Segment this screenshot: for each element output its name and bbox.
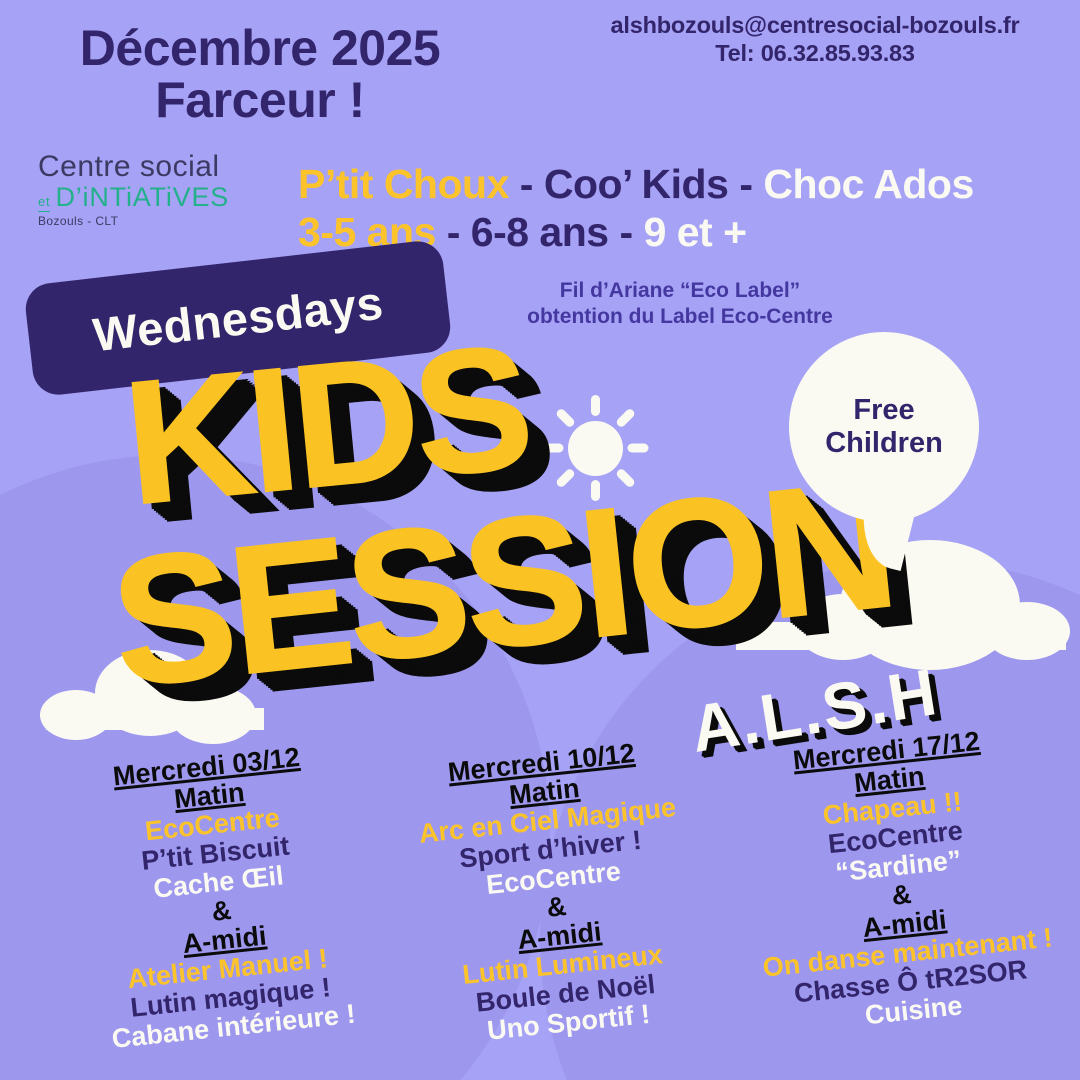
bubble-line-1: Free xyxy=(853,394,914,427)
group-name-2: Choc Ados xyxy=(763,161,973,207)
group-age-separator-1: - xyxy=(620,209,633,255)
logo-line-1: Centre social xyxy=(38,152,250,182)
logo-initiatives: D’iNTiATiVES xyxy=(55,182,229,212)
group-name-1: Coo’ Kids xyxy=(544,161,729,207)
group-separator-1: - xyxy=(739,161,752,207)
group-separator-0: - xyxy=(520,161,533,207)
contact-block: alshbozouls@centresocial-bozouls.fr Tel:… xyxy=(560,12,1070,67)
eco-label-line-1: Fil d’Ariane “Eco Label” xyxy=(400,278,960,304)
day-column-2: Mercredi 10/12 Matin Arc en Ciel Magique… xyxy=(376,732,735,1055)
page-title: Décembre 2025 Farceur ! xyxy=(0,22,520,126)
day-1-ampersand: & xyxy=(210,895,233,928)
logo-line-2-wrap: et D’iNTiATiVES xyxy=(38,182,250,212)
contact-phone[interactable]: Tel: 06.32.85.93.83 xyxy=(560,40,1070,68)
day-column-3-stack: Mercredi 17/12 Matin Chapeau !! EcoCentr… xyxy=(721,720,1080,1043)
logo-subtitle: Bozouls - CLT xyxy=(38,214,250,228)
day-column-3: Mercredi 17/12 Matin Chapeau !! EcoCentr… xyxy=(721,720,1080,1043)
group-name-0: P’tit Choux xyxy=(298,161,509,207)
speech-bubble: Free Children xyxy=(789,332,979,522)
poster-canvas: Décembre 2025 Farceur ! alshbozouls@cent… xyxy=(0,0,1080,1080)
centre-social-logo: Centre social et D’iNTiATiVES Bozouls - … xyxy=(38,152,250,228)
header-theme: Farceur ! xyxy=(0,74,520,126)
day-column-1: Mercredi 03/12 Matin EcoCentre P’tit Bis… xyxy=(41,736,400,1059)
day-2-ampersand: & xyxy=(545,891,568,924)
contact-email[interactable]: alshbozouls@centresocial-bozouls.fr xyxy=(560,12,1070,40)
header-month-year: Décembre 2025 xyxy=(0,22,520,74)
speech-bubble-text: Free Children xyxy=(789,332,979,522)
group-age-1: 6-8 ans xyxy=(471,209,609,255)
group-age-2: 9 et + xyxy=(644,209,747,255)
logo-et: et xyxy=(38,194,50,212)
group-age-separator-0: - xyxy=(447,209,460,255)
group-names-row: P’tit Choux - Coo’ Kids - Choc Ados xyxy=(298,160,1080,208)
day-column-2-stack: Mercredi 10/12 Matin Arc en Ciel Magique… xyxy=(376,732,735,1055)
bubble-line-2: Children xyxy=(825,427,943,460)
day-3-ampersand: & xyxy=(890,879,913,912)
day-column-1-stack: Mercredi 03/12 Matin EcoCentre P’tit Bis… xyxy=(41,736,400,1059)
